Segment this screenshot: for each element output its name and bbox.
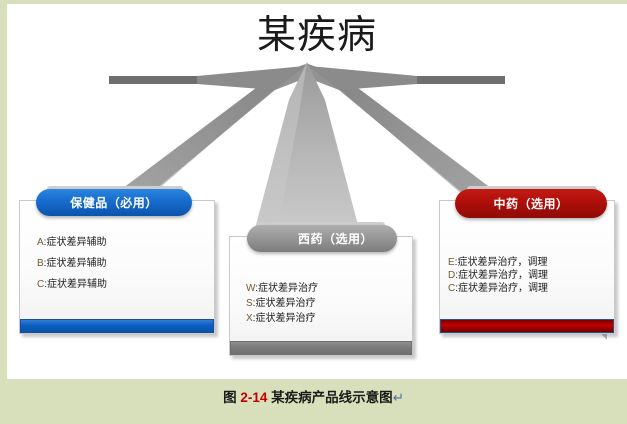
panel-footer-accent [20, 319, 214, 333]
diagram-canvas: 某疾病 A:症状差异辅助 B:症状差异辅助 C:症状差异辅助 保健品（必用） [7, 4, 627, 379]
item-key: X [246, 313, 253, 324]
list-item: X:症状差异治疗 [246, 311, 318, 326]
caption-text: 某疾病产品线示意图 [271, 390, 393, 405]
panel-header-label: 保健品（必用） [70, 194, 158, 211]
panel-item-list: E:症状差异治疗，调理 D:症状差异治疗，调理 C:症状差异治疗，调理 [448, 256, 548, 295]
item-key: S [246, 298, 253, 309]
item-text: 症状差异辅助 [46, 237, 106, 248]
list-item: W:症状差异治疗 [246, 281, 318, 296]
caption-prefix: 图 [223, 390, 237, 405]
panel-header-health-products[interactable]: 保健品（必用） [36, 189, 192, 216]
list-item: C:症状差异辅助 [37, 274, 107, 295]
list-item: C:症状差异治疗，调理 [448, 282, 548, 295]
figure-caption: 图 2-14 某疾病产品线示意图↵ [0, 386, 627, 406]
list-item: E:症状差异治疗，调理 [448, 256, 548, 269]
item-text: 症状差异治疗 [255, 298, 315, 309]
item-key: A [37, 237, 44, 248]
item-text: 症状差异辅助 [47, 279, 107, 290]
panel-header-chinese-medicine[interactable]: 中药（选用） [455, 189, 607, 218]
page-background: 某疾病 A:症状差异辅助 B:症状差异辅助 C:症状差异辅助 保健品（必用） [0, 0, 627, 424]
item-key: B [37, 258, 44, 269]
panel-health-products[interactable]: A:症状差异辅助 B:症状差异辅助 C:症状差异辅助 [19, 200, 215, 334]
caption-number: 2-14 [240, 390, 267, 405]
panel-western-medicine[interactable]: W:症状差异治疗 S:症状差异治疗 X:症状差异治疗 [229, 236, 413, 356]
list-item: D:症状差异治疗，调理 [448, 269, 548, 282]
list-item: B:症状差异辅助 [37, 253, 107, 274]
panel-header-western-medicine[interactable]: 西药（选用） [247, 225, 397, 252]
item-text: 症状差异治疗 [258, 283, 318, 294]
item-text: 症状差异治疗，调理 [458, 283, 548, 294]
item-text: 症状差异治疗 [255, 313, 315, 324]
item-key: E [448, 257, 455, 268]
list-item: A:症状差异辅助 [37, 232, 107, 253]
item-text: 症状差异辅助 [46, 258, 106, 269]
list-item: S:症状差异治疗 [246, 296, 318, 311]
panel-header-label: 西药（选用） [298, 230, 373, 247]
item-text: 症状差异治疗，调理 [458, 270, 548, 281]
panel-footer-accent [230, 341, 412, 355]
panel-chinese-medicine[interactable]: E:症状差异治疗，调理 D:症状差异治疗，调理 C:症状差异治疗，调理 [439, 200, 615, 334]
panel-item-list: A:症状差异辅助 B:症状差异辅助 C:症状差异辅助 [37, 232, 107, 295]
panel-item-list: W:症状差异治疗 S:症状差异治疗 X:症状差异治疗 [246, 281, 318, 326]
panel-footer-accent [440, 319, 614, 333]
page-title: 某疾病 [7, 12, 627, 60]
panel-header-label: 中药（选用） [493, 195, 568, 212]
item-key: W [246, 283, 255, 294]
paragraph-mark-icon: ↵ [393, 390, 404, 405]
item-text: 症状差异治疗，调理 [457, 257, 547, 268]
